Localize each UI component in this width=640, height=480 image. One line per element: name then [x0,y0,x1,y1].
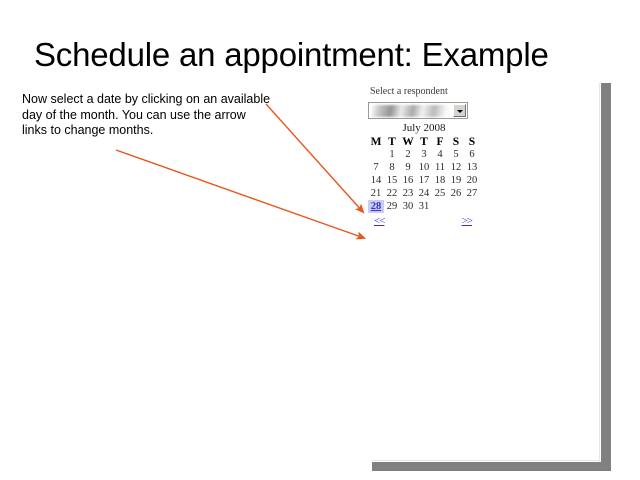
calendar-week-row: 14151617181920 [368,174,480,187]
calendar-day-empty [448,200,464,213]
chevron-down-icon[interactable] [453,104,466,117]
calendar-day-14: 14 [368,174,384,187]
calendar-day-17: 17 [416,174,432,187]
calendar-day-18: 18 [432,174,448,187]
respondent-label: Select a respondent [370,86,498,97]
calendar-day-30: 30 [400,200,416,213]
calendar-weekday-5: S [448,135,464,148]
calendar-day-31: 31 [416,200,432,213]
calendar-week-row: 123456 [368,148,480,161]
calendar-day-27: 27 [464,187,480,200]
calendar-weekday-1: T [384,135,400,148]
calendar-day-12: 12 [448,161,464,174]
frame-shadow-bottom [372,462,611,471]
calendar-day-15: 15 [384,174,400,187]
slide-canvas: Schedule an appointment: Example Now sel… [0,0,640,480]
calendar-week-row: 28293031 [368,200,480,213]
calendar-weekday-2: W [400,135,416,148]
calendar-day-selectable-28[interactable]: 28 [368,200,384,213]
page-title: Schedule an appointment: Example [34,36,614,74]
calendar-day-7: 7 [368,161,384,174]
calendar-grid: MTWTFSS 12345678910111213141516171819202… [368,135,480,213]
calendar-day-empty [432,200,448,213]
calendar-week-row: 21222324252627 [368,187,480,200]
calendar-day-23: 23 [400,187,416,200]
calendar-day-29: 29 [384,200,400,213]
calendar-day-25: 25 [432,187,448,200]
frame-edge-bottom [372,460,600,461]
calendar-day-16: 16 [400,174,416,187]
calendar-day-9: 9 [400,161,416,174]
calendar-day-19: 19 [448,174,464,187]
calendar-month-label: July 2008 [374,122,474,134]
calendar-day-22: 22 [384,187,400,200]
calendar-day-1: 1 [384,148,400,161]
prev-month-link[interactable]: << [374,215,384,227]
calendar-day-26: 26 [448,187,464,200]
respondent-selected-value [371,105,451,117]
calendar-weekday-3: T [416,135,432,148]
calendar-week-row: 78910111213 [368,161,480,174]
calendar-nav: << >> [368,215,472,229]
calendar-day-4: 4 [432,148,448,161]
arrow-to-selectable-day [266,104,363,212]
calendar-week-rows: 1234567891011121314151617181920212223242… [368,148,480,213]
calendar-day-link-28[interactable]: 28 [371,201,382,212]
calendar-weekday-6: S [464,135,480,148]
calendar-day-21: 21 [368,187,384,200]
calendar-day-empty [464,200,480,213]
calendar-day-5: 5 [448,148,464,161]
calendar-day-24: 24 [416,187,432,200]
calendar-widget: Select a respondent July 2008 MTWTFSS 12… [368,86,498,229]
calendar-day-8: 8 [384,161,400,174]
frame-shadow-right [601,83,611,463]
calendar-weekday-4: F [432,135,448,148]
calendar-day-10: 10 [416,161,432,174]
calendar-day-empty [368,148,384,161]
frame-edge-right [599,83,600,462]
instruction-text: Now select a date by clicking on an avai… [22,92,272,139]
calendar-day-11: 11 [432,161,448,174]
calendar-day-3: 3 [416,148,432,161]
calendar-day-6: 6 [464,148,480,161]
calendar-weekday-0: M [368,135,384,148]
calendar-day-13: 13 [464,161,480,174]
calendar-day-2: 2 [400,148,416,161]
calendar-day-20: 20 [464,174,480,187]
arrow-to-month-nav [116,150,364,238]
next-month-link[interactable]: >> [462,215,472,227]
calendar-weekday-row: MTWTFSS [368,135,480,148]
respondent-select[interactable] [368,102,468,119]
